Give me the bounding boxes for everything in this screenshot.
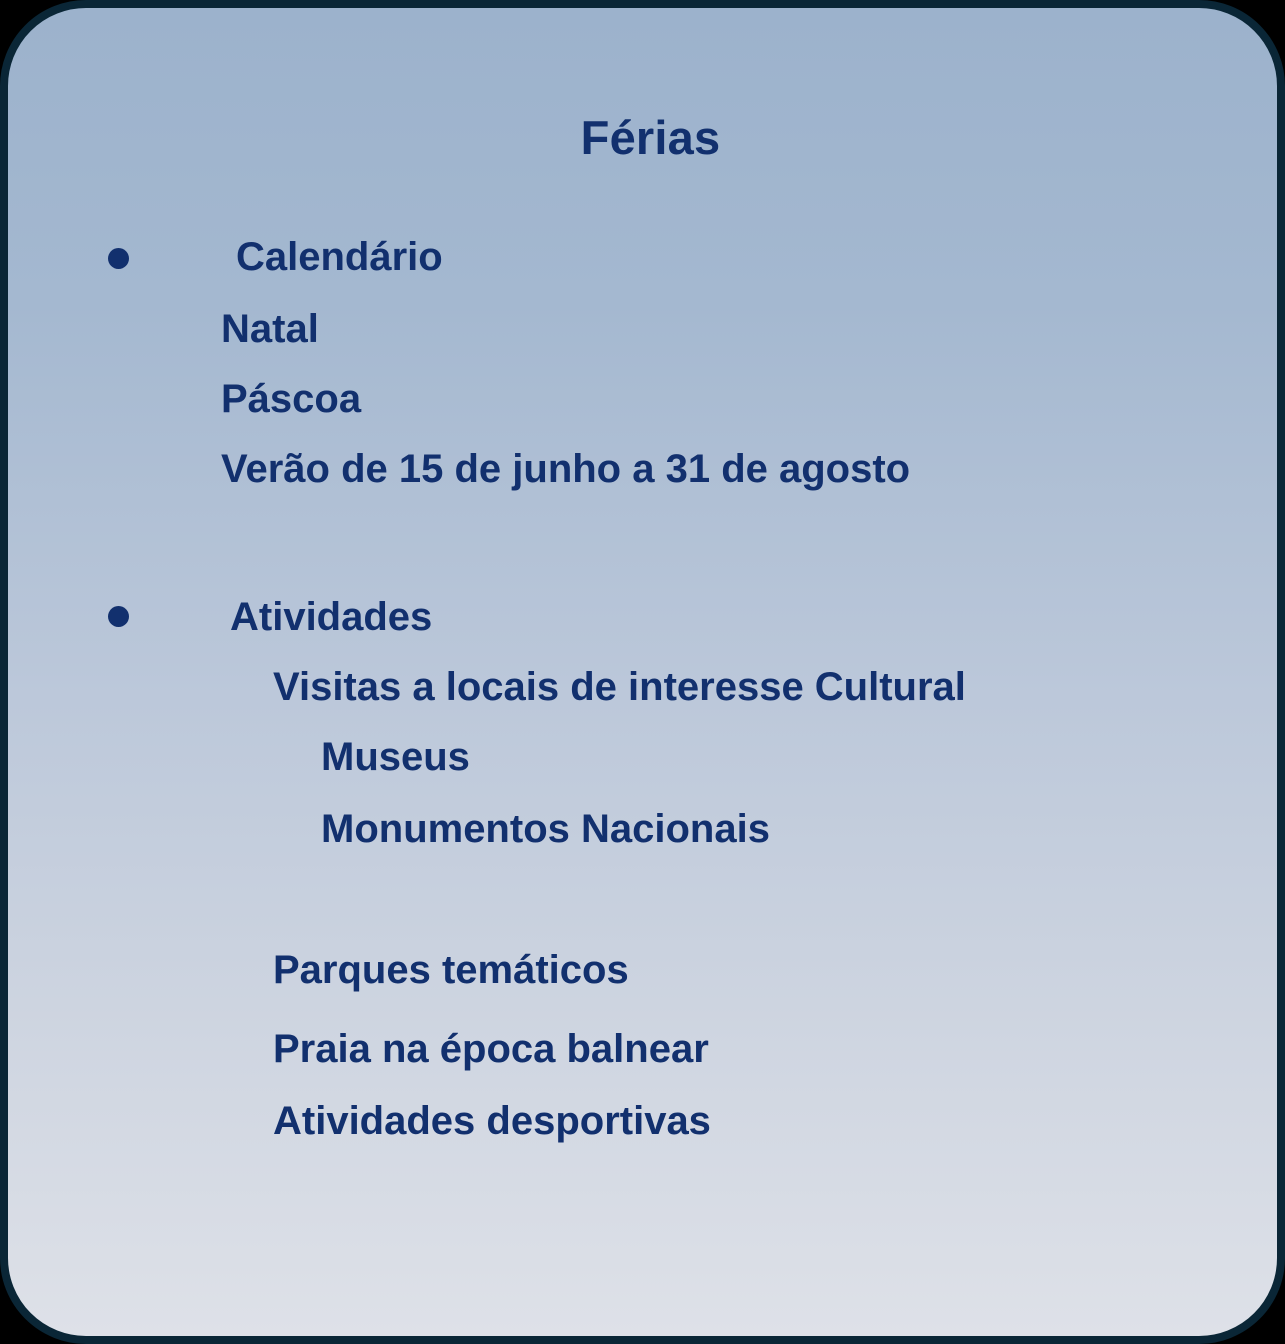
list-item-natal: Natal <box>221 309 319 349</box>
list-item-museus: Museus <box>321 737 470 777</box>
list-item-praia-epoca-balnear: Praia na época balnear <box>273 1029 709 1069</box>
bullet-icon-calendario <box>108 248 129 269</box>
list-item-monumentos-nacionais: Monumentos Nacionais <box>321 809 770 849</box>
slide-root: Férias Calendário Natal Páscoa Verão de … <box>0 0 1285 1344</box>
card-content: Calendário Natal Páscoa Verão de 15 de j… <box>8 8 1285 1344</box>
list-item-visitas-culturais: Visitas a locais de interesse Cultural <box>273 667 966 707</box>
list-item-pascoa: Páscoa <box>221 379 361 419</box>
list-item-heading-calendario: Calendário <box>236 237 443 277</box>
bullet-icon-atividades <box>108 606 129 627</box>
list-item-atividades-desportivas: Atividades desportivas <box>273 1101 711 1141</box>
list-item-parques-tematicos: Parques temáticos <box>273 950 629 990</box>
list-item-heading-atividades: Atividades <box>230 597 432 637</box>
list-item-verao: Verão de 15 de junho a 31 de agosto <box>221 449 910 489</box>
rounded-card-panel: Férias Calendário Natal Páscoa Verão de … <box>0 0 1285 1344</box>
